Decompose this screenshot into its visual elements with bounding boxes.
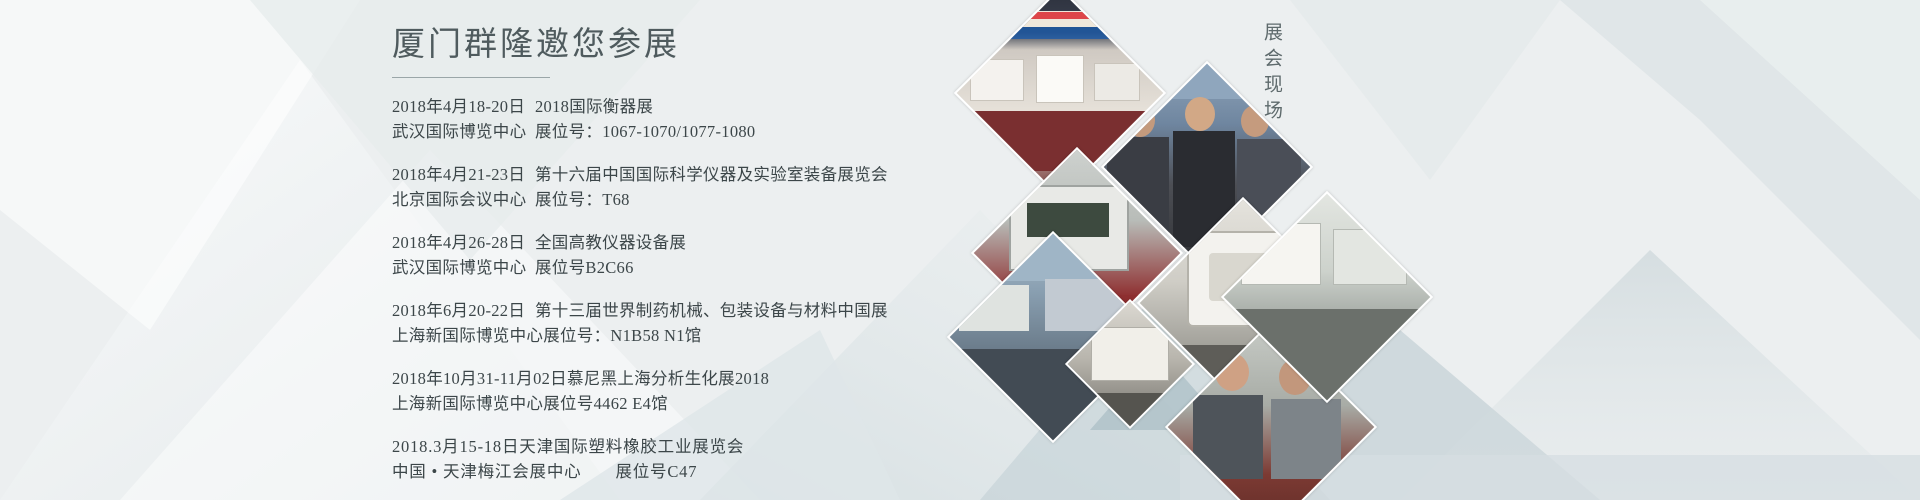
title-underline: [392, 77, 550, 78]
event-date: 2018年4月18-20日: [392, 94, 535, 119]
event-date: 2018年4月21-23日: [392, 162, 535, 187]
event-date: 2018.3月15-18日天津国际塑料橡胶工业展览会: [392, 434, 744, 459]
event-booth: 展位号：T68: [535, 187, 630, 212]
event-line-1: 2018年4月21-23日第十六届中国国际科学仪器及实验室装备展览会: [392, 162, 1032, 187]
event-item: 2018年4月21-23日第十六届中国国际科学仪器及实验室装备展览会 北京国际会…: [392, 162, 1032, 212]
page-title: 厦门群隆邀您参展: [392, 26, 1032, 66]
event-item: 2018年10月31-11月02日慕尼黑上海分析生化展2018 上海新国际博览中…: [392, 366, 1032, 416]
event-venue: 北京国际会议中心: [392, 187, 535, 212]
event-name: 第十六届中国国际科学仪器及实验室装备展览会: [535, 162, 888, 187]
event-booth: 展位号B2C66: [535, 255, 634, 280]
event-line-2: 上海新国际博览中心展位号4462 E4馆: [392, 391, 1032, 416]
event-item: 2018年4月26-28日全国高教仪器设备展 武汉国际博览中心展位号B2C66: [392, 230, 1032, 280]
event-booth: 展位号4462 E4馆: [543, 391, 668, 416]
event-line-2: 北京国际会议中心展位号：T68: [392, 187, 1032, 212]
event-venue: 上海新国际博览中心: [392, 323, 543, 348]
event-venue: 中国 • 天津梅江会展中心: [392, 459, 581, 484]
event-booth: 展位号C47: [581, 459, 697, 484]
event-line-1: 2018年4月26-28日全国高教仪器设备展: [392, 230, 1032, 255]
event-venue: 武汉国际博览中心: [392, 119, 535, 144]
event-item: 2018年4月18-20日2018国际衡器展 武汉国际博览中心展位号：1067-…: [392, 94, 1032, 144]
event-line-2: 上海新国际博览中心展位号：N1B58 N1馆: [392, 323, 1032, 348]
event-name: 2018国际衡器展: [535, 94, 653, 119]
event-item: 2018.3月15-18日天津国际塑料橡胶工业展览会 中国 • 天津梅江会展中心…: [392, 434, 1032, 484]
event-booth: 展位号：N1B58 N1馆: [543, 323, 701, 348]
exhibition-banner: 厦门群隆邀您参展 2018年4月18-20日2018国际衡器展 武汉国际博览中心…: [0, 0, 1920, 500]
event-date: 2018年10月31-11月02日: [392, 366, 567, 391]
event-name: 慕尼黑上海分析生化展2018: [567, 366, 769, 391]
event-line-2: 武汉国际博览中心展位号B2C66: [392, 255, 1032, 280]
event-line-1: 2018年4月18-20日2018国际衡器展: [392, 94, 1032, 119]
event-booth: 展位号：1067-1070/1077-1080: [535, 119, 755, 144]
event-line-2: 中国 • 天津梅江会展中心展位号C47: [392, 459, 1032, 484]
event-venue: 上海新国际博览中心: [392, 391, 543, 416]
event-item: 2018年6月20-22日第十三届世界制药机械、包装设备与材料中国展 上海新国际…: [392, 298, 1032, 348]
event-venue: 武汉国际博览中心: [392, 255, 535, 280]
photo-collage: [1020, 0, 1440, 500]
event-name: 第十三届世界制药机械、包装设备与材料中国展: [535, 298, 888, 323]
event-name: 全国高教仪器设备展: [535, 230, 686, 255]
event-line-1: 2018.3月15-18日天津国际塑料橡胶工业展览会: [392, 434, 1032, 459]
event-date: 2018年4月26-28日: [392, 230, 535, 255]
event-line-2: 武汉国际博览中心展位号：1067-1070/1077-1080: [392, 119, 1032, 144]
event-line-1: 2018年10月31-11月02日慕尼黑上海分析生化展2018: [392, 366, 1032, 391]
vertical-section-label: 展会现场: [1258, 22, 1285, 126]
event-line-1: 2018年6月20-22日第十三届世界制药机械、包装设备与材料中国展: [392, 298, 1032, 323]
event-list-panel: 厦门群隆邀您参展 2018年4月18-20日2018国际衡器展 武汉国际博览中心…: [392, 26, 1032, 486]
event-date: 2018年6月20-22日: [392, 298, 535, 323]
